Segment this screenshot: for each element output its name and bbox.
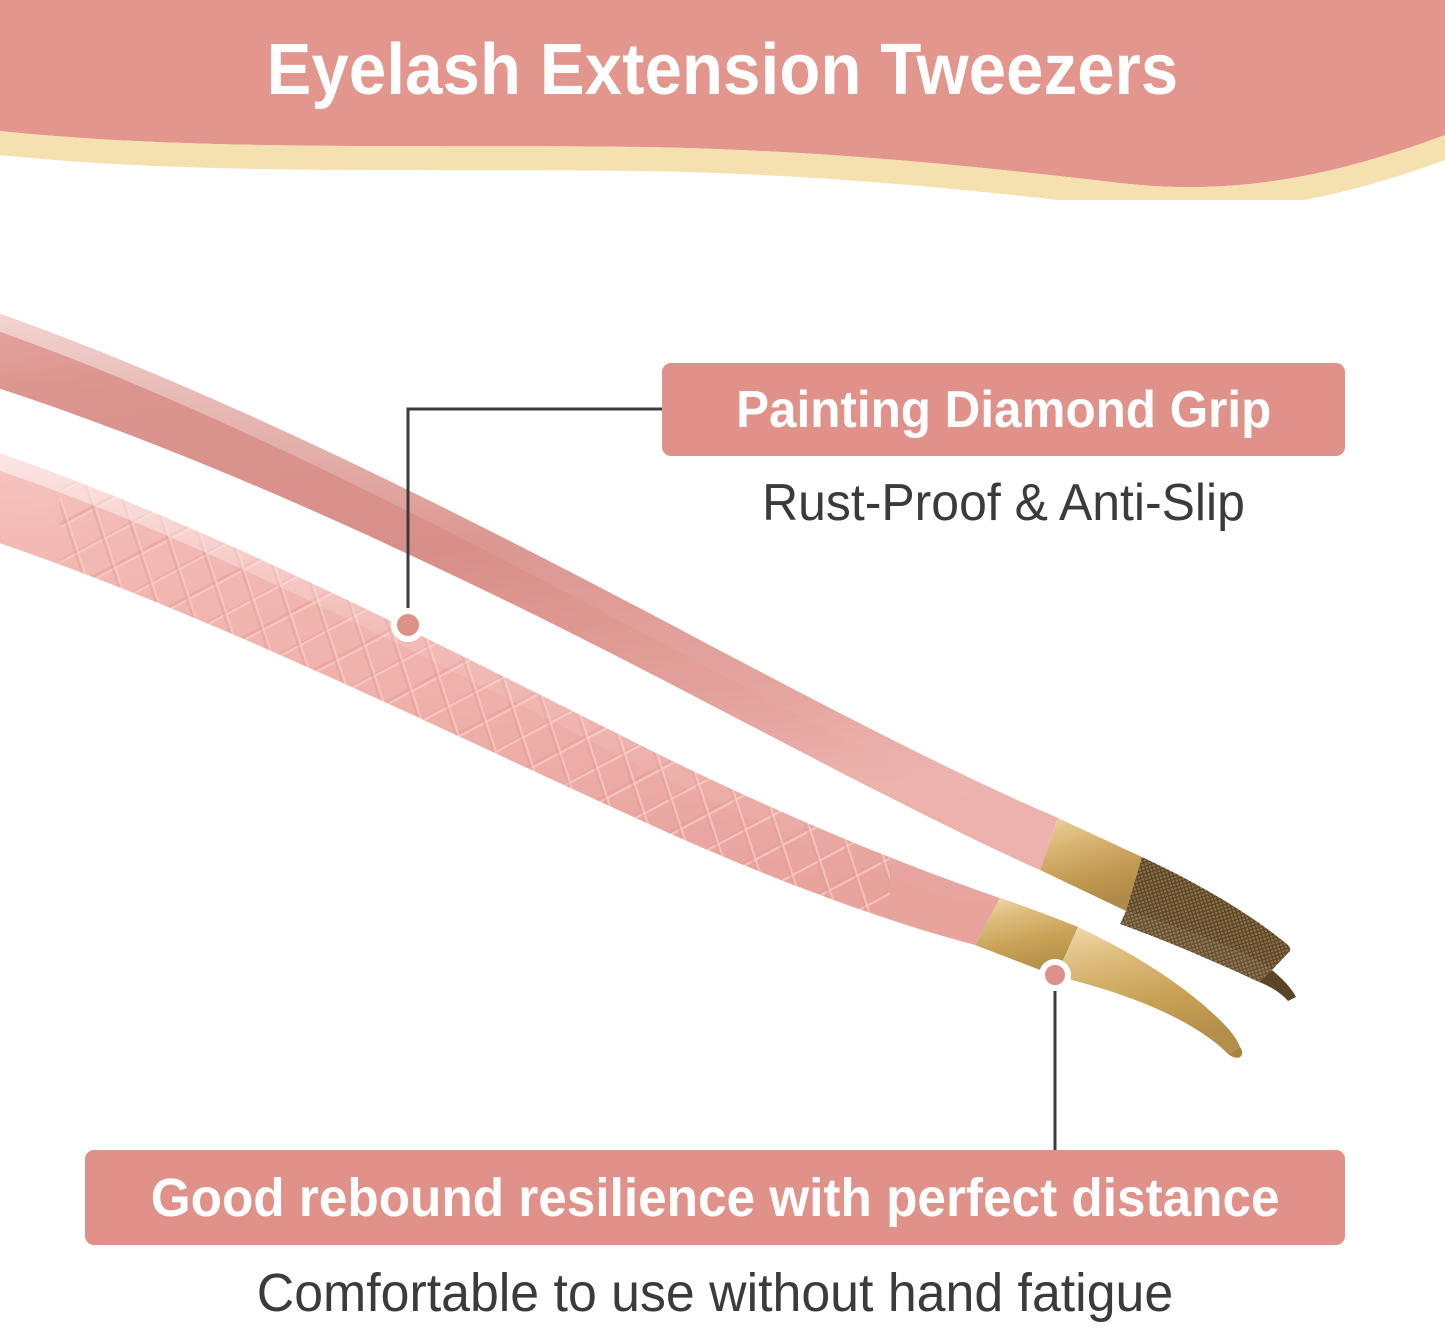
product-infographic: Eyelash Extension Tweezers [0,0,1445,1328]
callout-label-rebound: Good rebound resilience with perfect dis… [151,1167,1280,1229]
callout-subcaption-grip: Rust-Proof & Anti-Slip [676,473,1332,533]
callout-box-rebound: Good rebound resilience with perfect dis… [85,1150,1345,1245]
page-title: Eyelash Extension Tweezers [51,33,1395,109]
product-image [0,170,1445,1170]
callout-label-grip: Painting Diamond Grip [736,380,1271,440]
callout-subcaption-rebound: Comfortable to use without hand fatigue [110,1262,1320,1324]
callout-box-grip: Painting Diamond Grip [662,363,1345,456]
tweezers-illustration [0,170,1445,1170]
